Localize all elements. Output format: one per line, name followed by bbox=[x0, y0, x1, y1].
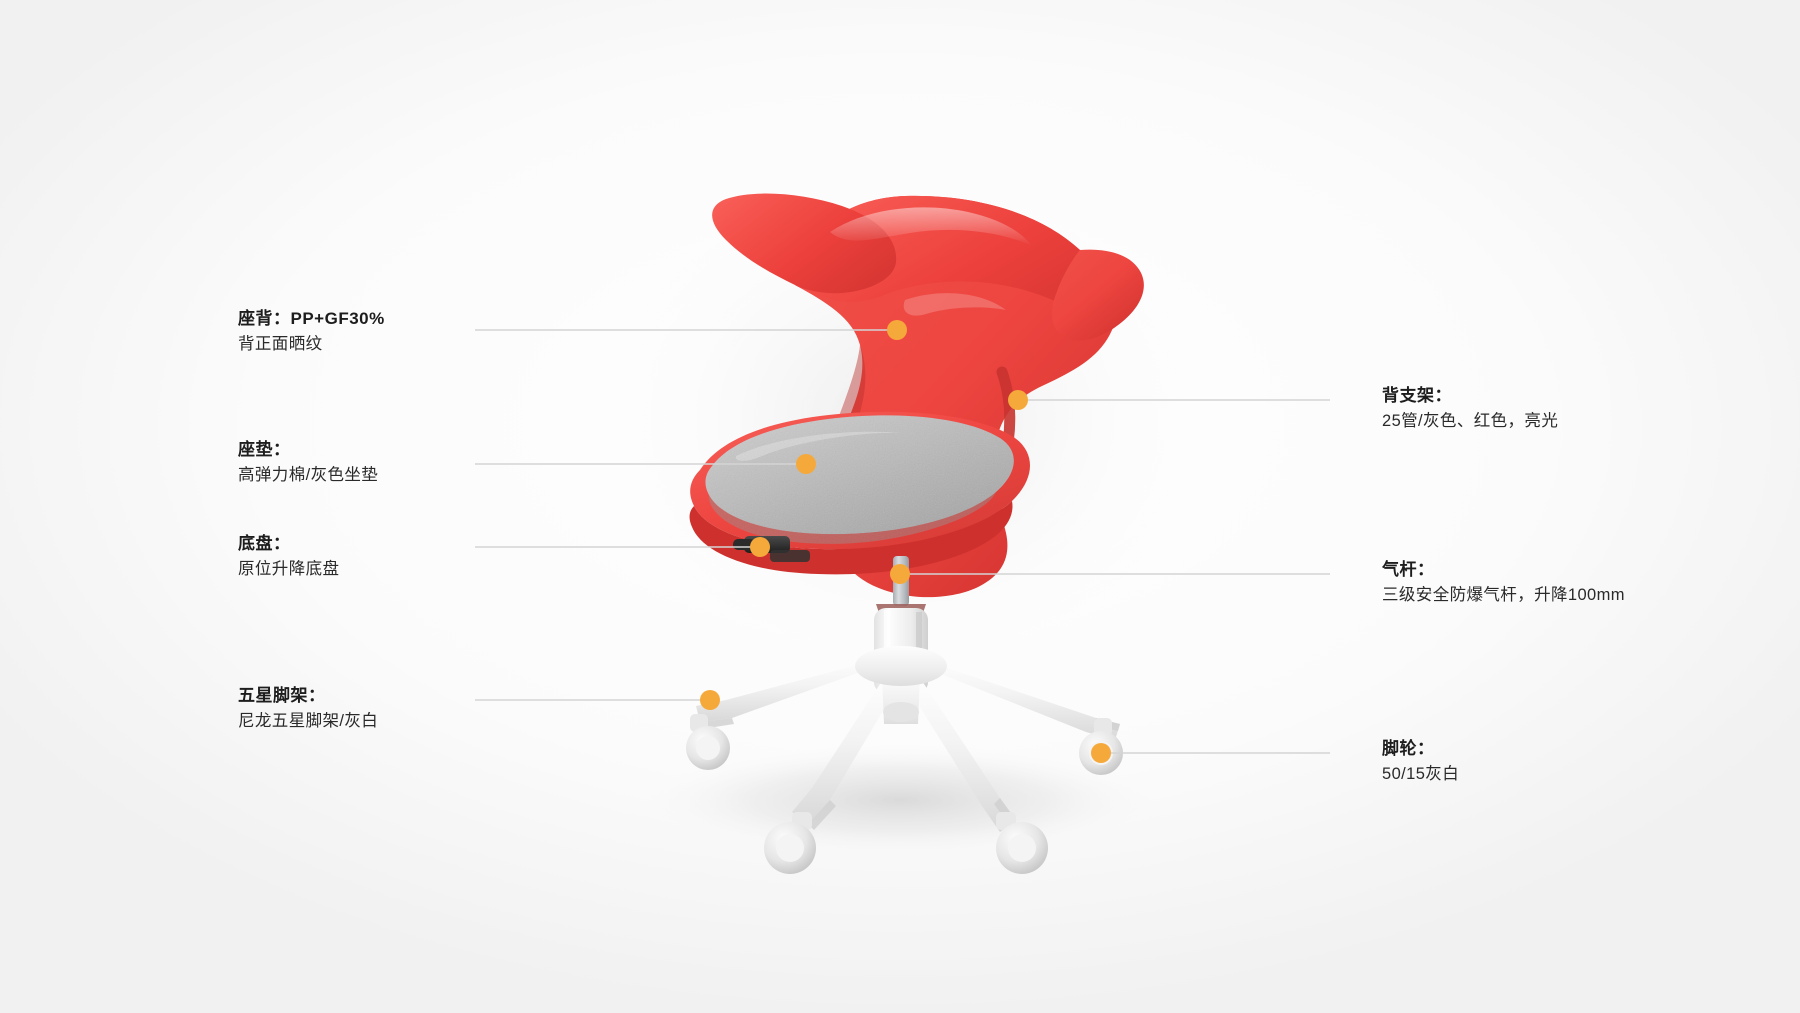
callout-title-gas-lift: 气杆： bbox=[1382, 557, 1625, 583]
callout-label-chassis: 底盘：原位升降底盘 bbox=[238, 531, 339, 583]
callout-dot-seat-cushion[interactable] bbox=[796, 454, 816, 474]
callout-desc-seat-cushion: 高弹力棉/灰色坐垫 bbox=[238, 463, 378, 489]
callout-title-seat-cushion: 座垫： bbox=[238, 437, 378, 463]
callout-title-casters: 脚轮： bbox=[1382, 736, 1459, 762]
callout-label-back-bracket: 背支架：25管/灰色、红色，亮光 bbox=[1382, 383, 1558, 435]
callout-dot-back-bracket[interactable] bbox=[1008, 390, 1028, 410]
callout-dot-casters[interactable] bbox=[1091, 743, 1111, 763]
callout-label-gas-lift: 气杆：三级安全防爆气杆，升降100mm bbox=[1382, 557, 1625, 609]
callout-title-five-star-base: 五星脚架： bbox=[238, 683, 378, 709]
callout-dot-five-star-base[interactable] bbox=[700, 690, 720, 710]
callout-label-back-shell: 座背：PP+GF30%背正面晒纹 bbox=[238, 306, 385, 358]
product-image-stage bbox=[0, 0, 1800, 1013]
callout-label-casters: 脚轮：50/15灰白 bbox=[1382, 736, 1459, 788]
callout-desc-five-star-base: 尼龙五星脚架/灰白 bbox=[238, 709, 378, 735]
callout-title-back-bracket: 背支架： bbox=[1382, 383, 1558, 409]
callout-desc-casters: 50/15灰白 bbox=[1382, 762, 1459, 788]
page-root: PRODUCT CONFIGURATION 产品配置 bbox=[0, 0, 1800, 1013]
callout-title-chassis: 底盘： bbox=[238, 531, 339, 557]
callout-dot-gas-lift[interactable] bbox=[890, 564, 910, 584]
callout-dot-chassis[interactable] bbox=[750, 537, 770, 557]
callout-desc-back-bracket: 25管/灰色、红色，亮光 bbox=[1382, 409, 1558, 435]
callout-desc-back-shell: 背正面晒纹 bbox=[238, 332, 385, 358]
callout-desc-gas-lift: 三级安全防爆气杆，升降100mm bbox=[1382, 583, 1625, 609]
callout-label-seat-cushion: 座垫：高弹力棉/灰色坐垫 bbox=[238, 437, 378, 489]
callout-title-back-shell: 座背：PP+GF30% bbox=[238, 306, 385, 332]
callout-desc-chassis: 原位升降底盘 bbox=[238, 557, 339, 583]
callout-dot-back-shell[interactable] bbox=[887, 320, 907, 340]
callout-label-five-star-base: 五星脚架：尼龙五星脚架/灰白 bbox=[238, 683, 378, 735]
